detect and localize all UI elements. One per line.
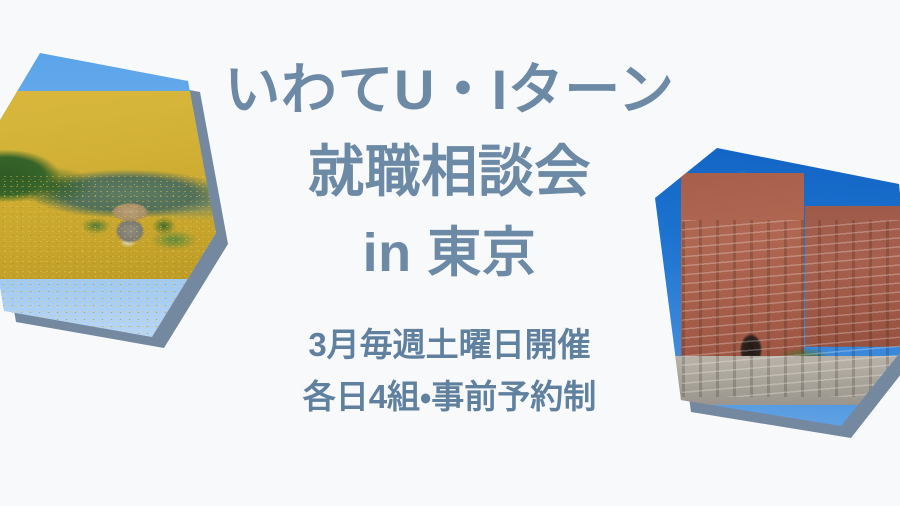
headline-line-1: いわてU・Iターン (224, 62, 674, 118)
headline-line-3: in 東京 (363, 226, 537, 280)
poster-text-block: いわてU・Iターン 就職相談会 in 東京 3月毎週土曜日開催 各日4組・事前予… (186, 0, 713, 506)
headline-line-2: 就職相談会 (308, 144, 591, 200)
poster-canvas: いわてU・Iターン 就職相談会 in 東京 3月毎週土曜日開催 各日4組・事前予… (0, 0, 900, 506)
subtitle-line-2: 各日4組・事前予約制 (303, 380, 597, 413)
subtitle-line-1: 3月毎週土曜日開催 (308, 328, 590, 361)
